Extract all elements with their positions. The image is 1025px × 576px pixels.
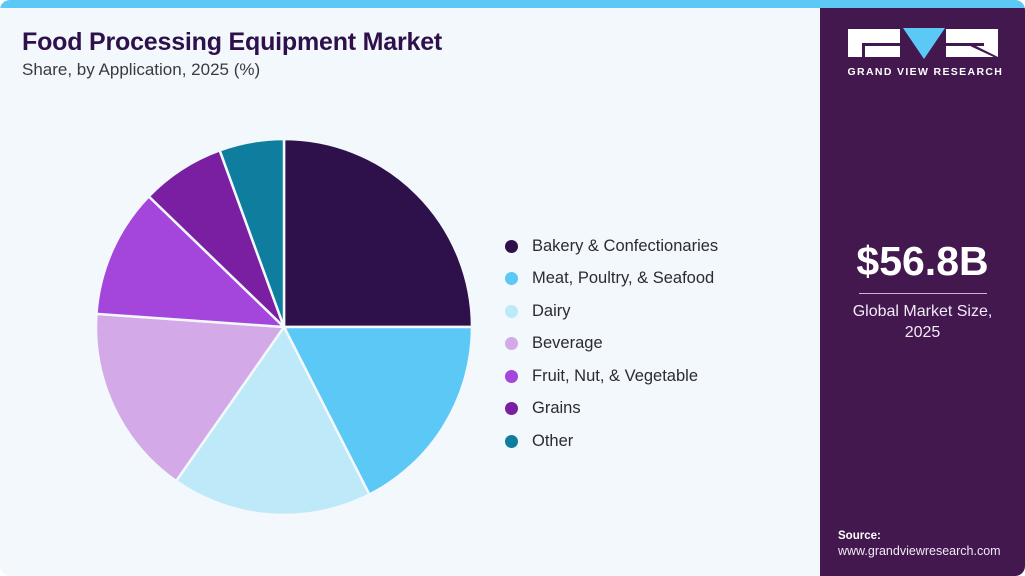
source-block: Source: www.grandviewresearch.com [838,530,1025,558]
pie-chart-svg [95,138,473,516]
legend-label: Dairy [532,302,571,321]
market-size-caption: Global Market Size, 2025 [820,302,1025,344]
legend-swatch-icon [505,370,518,383]
chart-card: Food Processing Equipment Market Share, … [0,0,1025,576]
legend-label: Fruit, Nut, & Vegetable [532,367,698,386]
chart-legend: Bakery & ConfectionariesMeat, Poultry, &… [505,230,805,458]
page-subtitle: Share, by Application, 2025 (%) [22,60,260,80]
market-size-value: $56.8B [820,240,1025,283]
legend-item[interactable]: Other [505,425,805,458]
legend-label: Other [532,432,573,451]
legend-swatch-icon [505,435,518,448]
legend-item[interactable]: Fruit, Nut, & Vegetable [505,360,805,393]
brand-sidebar: GRAND VIEW RESEARCH $56.8B Global Market… [820,8,1025,576]
source-url[interactable]: www.grandviewresearch.com [838,544,1025,558]
legend-label: Bakery & Confectionaries [532,237,718,256]
legend-swatch-icon [505,305,518,318]
chart-pane: Food Processing Equipment Market Share, … [0,8,820,576]
legend-label: Grains [532,399,581,418]
legend-item[interactable]: Grains [505,393,805,426]
legend-item[interactable]: Meat, Poultry, & Seafood [505,263,805,296]
top-accent-bar [0,0,1025,8]
legend-item[interactable]: Bakery & Confectionaries [505,230,805,263]
legend-item[interactable]: Dairy [505,295,805,328]
gvr-logo-marks [848,28,998,59]
legend-swatch-icon [505,272,518,285]
market-size-stat: $56.8B Global Market Size, 2025 [820,240,1025,344]
legend-item[interactable]: Beverage [505,328,805,361]
logo-letter-r [946,29,998,59]
brand-logo: GRAND VIEW RESEARCH [848,28,998,78]
logo-letter-g [848,29,900,57]
page-title: Food Processing Equipment Market [22,28,442,57]
pie-slice-group [96,139,472,515]
legend-label: Meat, Poultry, & Seafood [532,269,714,288]
legend-label: Beverage [532,334,603,353]
legend-swatch-icon [505,402,518,415]
brand-logo-text: GRAND VIEW RESEARCH [848,66,998,78]
logo-letter-v [903,28,945,59]
pie-chart [95,138,473,516]
legend-swatch-icon [505,337,518,350]
pie-slice[interactable] [284,139,472,327]
legend-swatch-icon [505,240,518,253]
stat-divider [859,293,987,294]
source-label: Source: [838,530,1025,542]
